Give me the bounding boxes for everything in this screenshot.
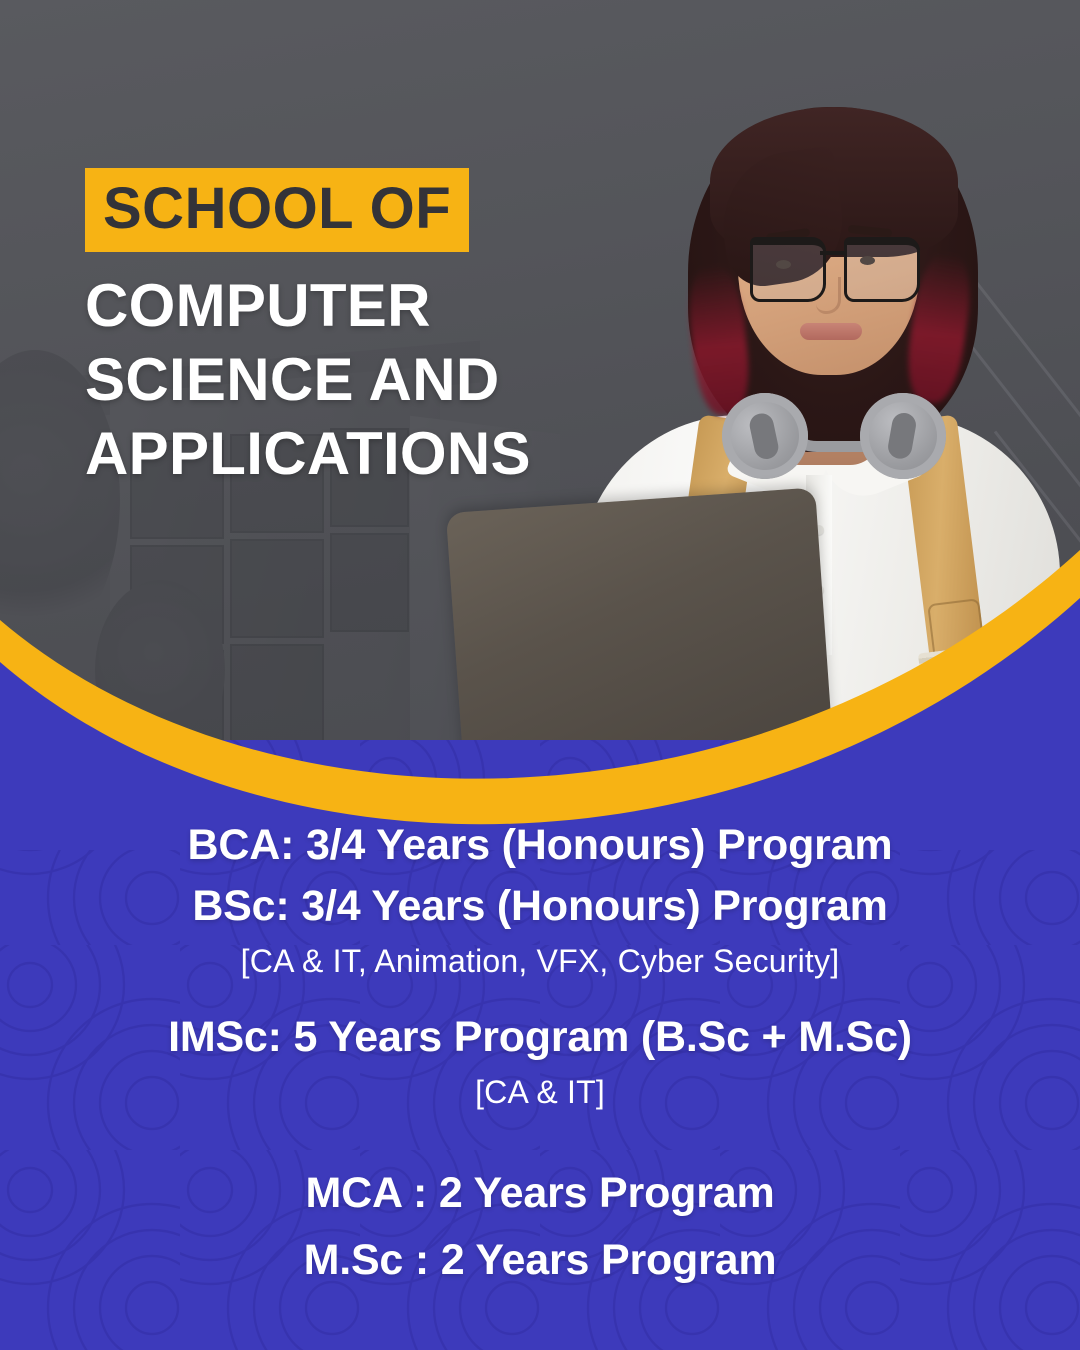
program-group-undergrad: BCA: 3/4 Years (Honours) Program BSc: 3/… [0, 815, 1080, 985]
program-imsc: IMSc: 5 Years Program (B.Sc + M.Sc) [0, 1007, 1080, 1068]
yellow-curved-divider [0, 520, 1080, 850]
glasses-bridge [820, 251, 844, 255]
program-bsc: BSc: 3/4 Years (Honours) Program [0, 876, 1080, 937]
program-msc: M.Sc : 2 Years Program [0, 1227, 1080, 1294]
glasses-lens [750, 237, 826, 302]
nose [816, 277, 841, 314]
headline-line-3: APPLICATIONS [85, 420, 705, 488]
program-list: BCA: 3/4 Years (Honours) Program BSc: 3/… [0, 815, 1080, 1293]
earcup-detail [748, 411, 781, 461]
program-group-postgrad: MCA : 2 Years Program M.Sc : 2 Years Pro… [0, 1160, 1080, 1293]
program-mca: MCA : 2 Years Program [0, 1160, 1080, 1227]
earcup-detail [886, 411, 918, 460]
eyebrow-badge: SCHOOL OF [85, 168, 469, 252]
headline-line-1: COMPUTER [85, 272, 705, 340]
program-imsc-specialisations: [CA & IT] [0, 1068, 1080, 1116]
headline-line-2: SCIENCE AND [85, 346, 705, 414]
promo-poster: SCHOOL OF COMPUTER SCIENCE AND APPLICATI… [0, 0, 1080, 1350]
mouth [800, 323, 862, 340]
program-bsc-specialisations: [CA & IT, Animation, VFX, Cyber Security… [0, 937, 1080, 985]
headline-block: SCHOOL OF COMPUTER SCIENCE AND APPLICATI… [85, 168, 705, 487]
program-bca: BCA: 3/4 Years (Honours) Program [0, 815, 1080, 876]
program-group-integrated: IMSc: 5 Years Program (B.Sc + M.Sc) [CA … [0, 1007, 1080, 1116]
glasses-lens [844, 237, 920, 302]
